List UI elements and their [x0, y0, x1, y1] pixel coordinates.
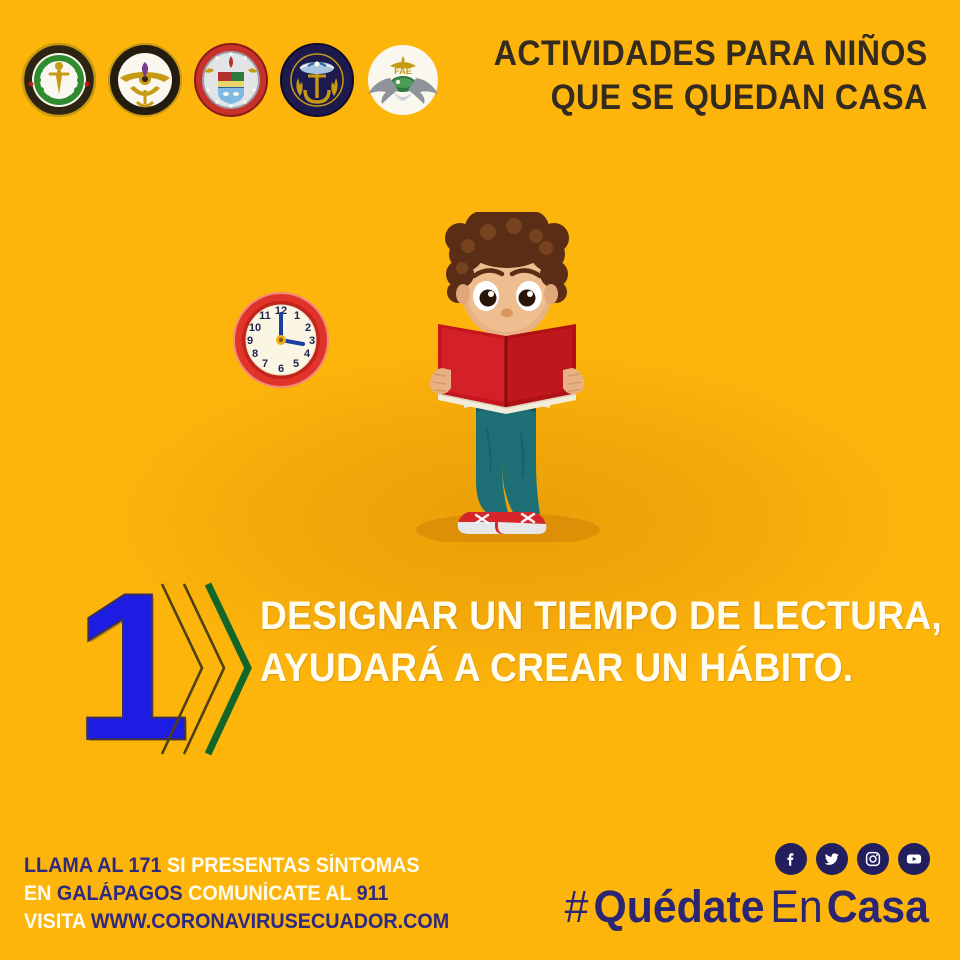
svg-text:3: 3	[309, 335, 315, 347]
social-icon-row	[775, 843, 930, 875]
headline-line-2-bold: QUEDAN CASA	[684, 78, 928, 117]
poster-canvas: FAE ACTIVIDADES PARA NIÑOS QUE SE QUEDAN…	[0, 0, 960, 960]
youtube-icon[interactable]	[898, 843, 930, 875]
headline-line-2: QUE SE QUEDAN CASA	[494, 80, 928, 115]
headline-line-1-bold: NIÑOS	[824, 34, 928, 73]
page-title: ACTIVIDADES PARA NIÑOS QUE SE QUEDAN CAS…	[456, 36, 928, 115]
step-block: 1 DESIGNAR UN TIEMPO DE LECTURA, AYUDARÁ…	[74, 578, 894, 758]
wall-clock-illustration: 12 1 2 3 4 5 6 7 8 9 10 11	[229, 288, 333, 392]
emblem-fuerza-aerea-ecuatoriana: FAE	[364, 32, 442, 128]
visita-label: VISITA	[24, 910, 91, 933]
contact-line-1: LLAMA AL 171 SI PRESENTAS SÍNTOMAS	[24, 852, 449, 880]
galapagos-label: GALÁPAGOS	[57, 882, 183, 905]
svg-text:7: 7	[262, 358, 268, 370]
hashtag-part-quedate: Quédate	[594, 884, 765, 929]
emblem-row: FAE	[20, 32, 442, 128]
emblem-ministerio-defensa-nacional-ecuador	[20, 32, 98, 128]
contact-line-1-text: SI PRESENTAS SÍNTOMAS	[161, 854, 419, 877]
headline-line-1: ACTIVIDADES PARA NIÑOS	[494, 36, 928, 71]
step-text-line-1: DESIGNAR UN TIEMPO DE LECTURA,	[260, 590, 942, 642]
emblem-armada-del-ecuador	[278, 32, 356, 128]
svg-text:9: 9	[247, 335, 253, 347]
website-url[interactable]: WWW.CORONAVIRUSECUADOR.COM	[91, 910, 449, 933]
contact-line-2-text-b: COMUNÍCATE AL	[183, 882, 357, 905]
hashtag-symbol: #	[565, 884, 589, 929]
hotline-number-171: LLAMA AL 171	[24, 854, 161, 877]
emblem-ejercito-ecuatoriano	[192, 32, 270, 128]
headline-line-1-light: ACTIVIDADES PARA	[494, 34, 824, 73]
facebook-icon[interactable]	[775, 843, 807, 875]
hashtag-part-casa: Casa	[827, 884, 929, 929]
headline-line-2-light: QUE SE	[551, 78, 684, 117]
hashtag-quedate-en-casa: #QuédateEnCasa	[564, 884, 932, 929]
svg-text:4: 4	[304, 348, 311, 360]
step-text-line-2: AYUDARÁ A CREAR UN HÁBITO.	[260, 642, 942, 694]
svg-text:10: 10	[249, 322, 261, 334]
svg-text:8: 8	[252, 348, 258, 360]
hashtag-part-en: En	[771, 884, 823, 929]
contact-info: LLAMA AL 171 SI PRESENTAS SÍNTOMAS EN GA…	[24, 852, 476, 936]
boy-reading-illustration	[390, 212, 620, 542]
hotline-number-911: 911	[357, 882, 389, 905]
contact-line-2-text-a: EN	[24, 882, 57, 905]
svg-text:FAE: FAE	[394, 66, 412, 76]
contact-line-3: VISITA WWW.CORONAVIRUSECUADOR.COM	[24, 908, 449, 936]
instagram-icon[interactable]	[857, 843, 889, 875]
step-description: DESIGNAR UN TIEMPO DE LECTURA, AYUDARÁ A…	[260, 590, 960, 694]
chevron-arrows	[156, 580, 276, 758]
twitter-icon[interactable]	[816, 843, 848, 875]
svg-text:1: 1	[294, 310, 300, 322]
svg-text:2: 2	[305, 322, 311, 334]
svg-text:6: 6	[278, 363, 284, 375]
svg-text:11: 11	[259, 310, 271, 322]
svg-text:5: 5	[293, 358, 299, 370]
emblem-fuerzas-armadas-comando-conjunto	[106, 32, 184, 128]
contact-line-2: EN GALÁPAGOS COMUNÍCATE AL 911	[24, 880, 449, 908]
